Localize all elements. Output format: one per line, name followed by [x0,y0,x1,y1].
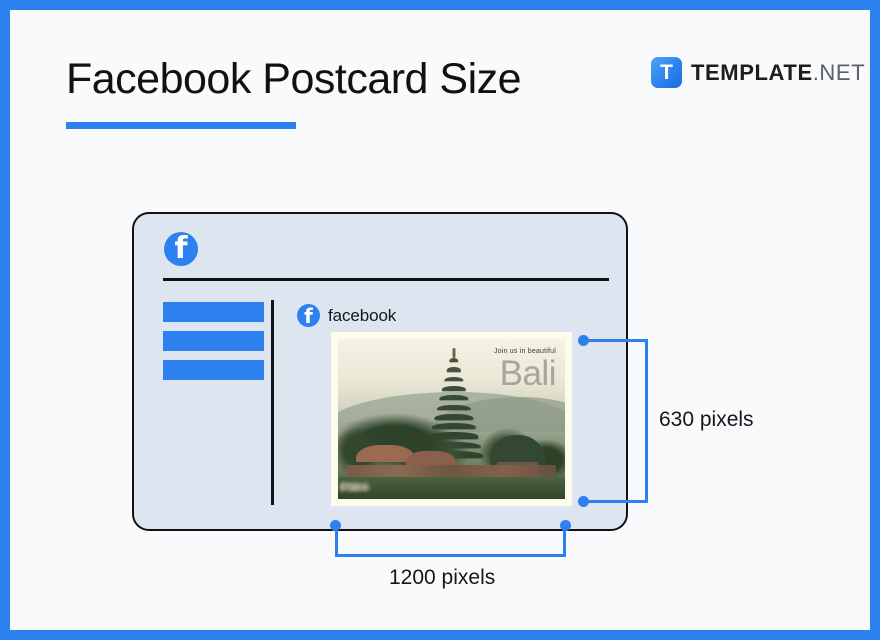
post-brand-label: facebook [328,306,396,326]
brand-wordmark: TEMPLATE.NET [691,60,865,86]
title-underline-rule [66,122,296,129]
width-anchor-dot-right [560,520,571,531]
facebook-glyph [164,232,198,266]
card-horizontal-divider [163,278,609,281]
brand-name-text: TEMPLATE [691,60,813,85]
brand-tld-text: .NET [813,60,866,85]
card-vertical-divider [271,300,274,505]
pagoda-tier [444,377,463,382]
pagoda-tier [437,405,471,411]
width-anchor-dot-left [330,520,341,531]
facebook-mockup-card: facebook Join us in beau [132,212,628,531]
height-anchor-dot-top [578,335,589,346]
sidebar-bar [163,360,264,380]
brand-logo: T TEMPLATE.NET [651,57,865,88]
sidebar-bar [163,302,264,322]
page-canvas: Facebook Postcard Size T TEMPLATE.NET fa… [10,10,870,630]
sidebar-bar [163,331,264,351]
sidebar-placeholder-bars [163,302,264,389]
pagoda-tier [439,395,468,400]
photo-garden-details [338,480,565,494]
pagoda-tier [449,358,458,362]
page-title: Facebook Postcard Size [66,55,521,104]
width-measurement-bracket [335,525,566,557]
height-measurement-bracket [588,339,648,503]
width-measurement-label: 1200 pixels [389,566,495,590]
postcard-photo: Join us in beautiful Bali [338,339,565,499]
postcard-preview: Join us in beautiful Bali [331,332,572,506]
facebook-icon [164,232,198,271]
post-header: facebook [297,304,396,327]
height-measurement-label: 630 pixels [659,408,754,432]
pagoda-tier [442,386,466,391]
template-logo-icon: T [651,57,682,88]
pagoda-spire [452,348,455,358]
postcard-headline-text: Bali [500,356,556,391]
pagoda-tier [447,367,461,371]
height-anchor-dot-bottom [578,496,589,507]
facebook-icon [297,304,320,327]
